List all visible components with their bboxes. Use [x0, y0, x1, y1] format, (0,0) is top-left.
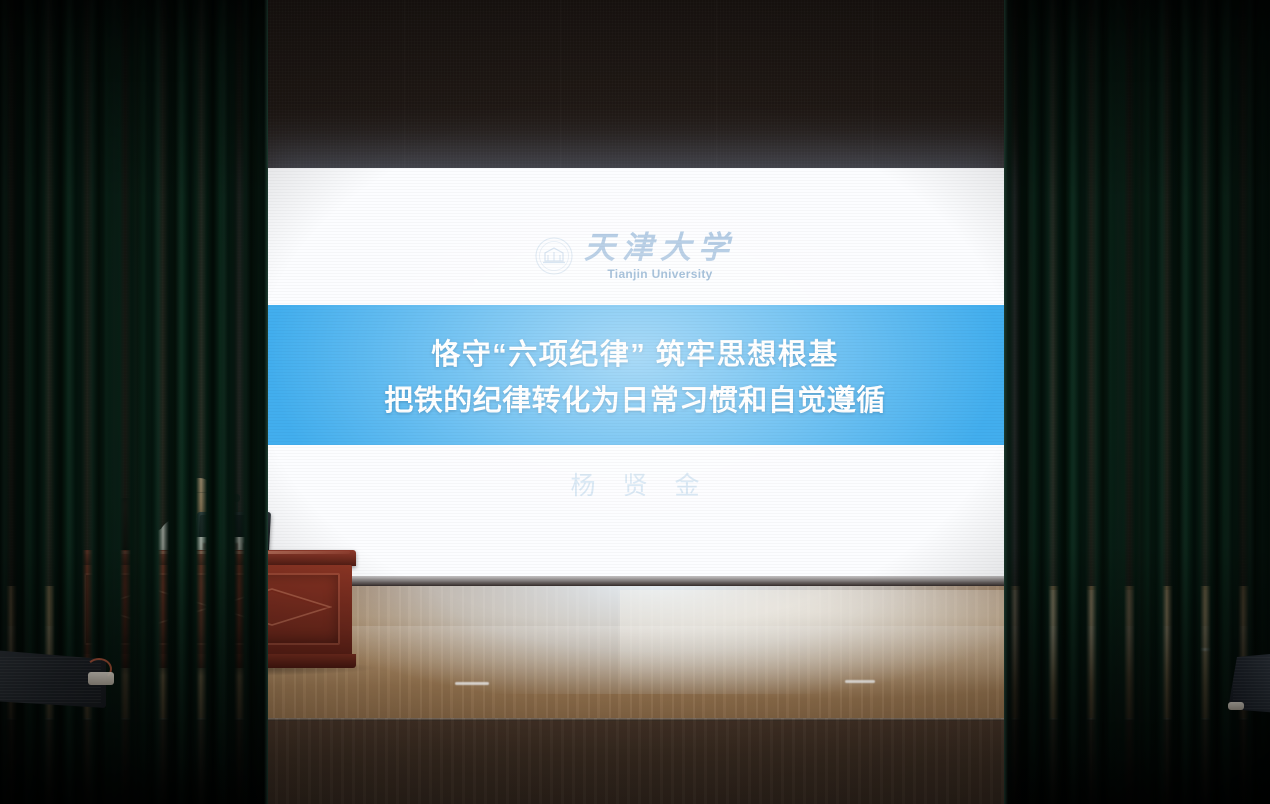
screen-bottom-edge: [266, 576, 1004, 586]
curtain-top-shadow-left: [0, 0, 268, 200]
floor-scuff: [845, 680, 875, 683]
slide-title-line-1: 恪守“六项纪律” 筑牢思想根基: [431, 331, 839, 373]
floor-socket-plate: [88, 672, 114, 685]
slide-presenter-name: 杨 贤 金: [266, 466, 1004, 502]
projection-screen: 天津大学 Tianjin University 恪守“六项纪律” 筑牢思想根基 …: [266, 168, 1004, 586]
curtain-bottom-shadow-right: [1004, 544, 1270, 804]
stage-curtain-right: [1004, 0, 1270, 804]
speaker-grille-left: [0, 655, 101, 703]
logo-english-name: Tianjin University: [607, 267, 712, 281]
logo-chinese-name: 天津大学: [584, 232, 736, 265]
floor-scuff: [455, 682, 489, 685]
floor-socket-plate-right: [1228, 702, 1244, 710]
curtain-edge-highlight-left: [264, 0, 268, 804]
curtain-top-shadow-right: [1004, 0, 1270, 200]
stage-photograph: 天津大学 Tianjin University 恪守“六项纪律” 筑牢思想根基 …: [0, 0, 1270, 804]
tianjin-university-seal-icon: [534, 236, 574, 276]
curtain-edge-highlight-right: [1004, 0, 1008, 804]
slide-title-line-2: 把铁的纪律转化为日常习惯和自觉遵循: [384, 377, 886, 419]
logo-wordmark: 天津大学 Tianjin University: [584, 232, 736, 281]
university-logo: 天津大学 Tianjin University: [266, 232, 1004, 281]
slide-title-band: 恪守“六项纪律” 筑牢思想根基 把铁的纪律转化为日常习惯和自觉遵循: [266, 305, 1004, 445]
